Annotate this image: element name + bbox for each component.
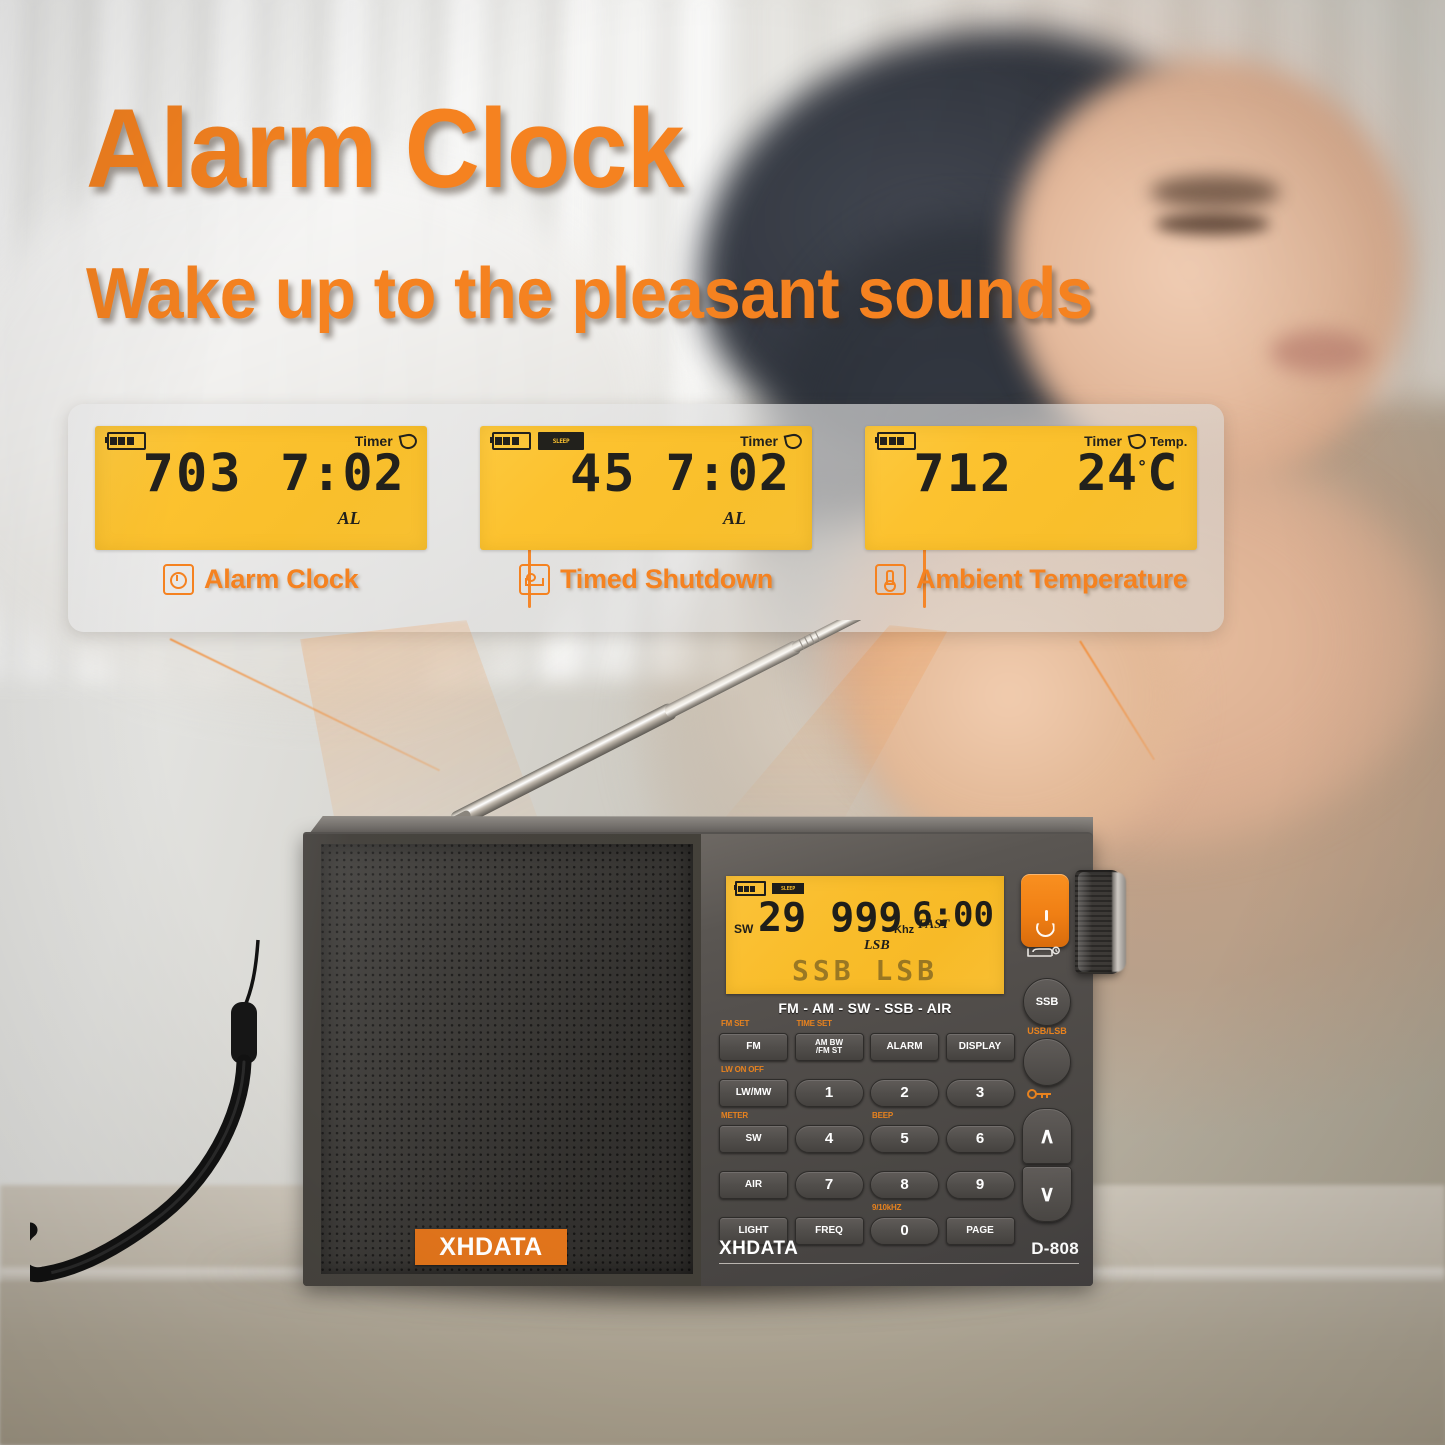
key-cell: METER SW (719, 1112, 785, 1153)
key-cell: ALARM (870, 1020, 936, 1061)
key-lock-icon (1025, 1088, 1069, 1100)
key-air[interactable]: AIR (719, 1171, 788, 1199)
bed-sleep-icon (1025, 944, 1065, 960)
band-indicator: SW (734, 922, 753, 936)
key-fm[interactable]: FM (719, 1033, 788, 1061)
key-7[interactable]: 7 (795, 1171, 864, 1199)
closed-eye (1155, 213, 1270, 235)
thermometer-icon (875, 564, 906, 595)
model-number: D-808 (1031, 1239, 1079, 1259)
power-button[interactable] (1021, 874, 1069, 947)
tuning-knob-highlight (1078, 872, 1092, 972)
key-cell: AIR (719, 1158, 785, 1199)
key-shift-tag: TIME SET (797, 1019, 832, 1028)
frequency-value: 29 999 (758, 898, 903, 938)
key-cell: 8 (870, 1158, 936, 1199)
key-6[interactable]: 6 (946, 1125, 1015, 1153)
key-8[interactable]: 8 (870, 1171, 939, 1199)
main-lcd-display: SLEEP SW 29 999 Khz FAST 6:00 LSB SSB LS… (726, 876, 1004, 994)
temp-unit: C (1147, 444, 1177, 502)
keypad-row: AIR 7 8 9 (719, 1158, 1011, 1199)
degree-symbol: ° (1137, 457, 1147, 477)
feature-label-ambient-temperature: Ambient Temperature (875, 564, 1187, 595)
battery-icon (735, 881, 766, 896)
key-shift-tag: FM SET (721, 1019, 749, 1028)
key-cell: 9 (946, 1158, 1012, 1199)
usb-lsb-button[interactable] (1023, 1038, 1071, 1086)
bed-icon (519, 564, 550, 595)
key-cell: DISPLAY (946, 1020, 1012, 1061)
ssb-button[interactable]: SSB (1023, 978, 1071, 1026)
feature-label-text: Alarm Clock (204, 564, 358, 595)
lips (1270, 330, 1370, 374)
key-5[interactable]: 5 (870, 1125, 939, 1153)
keypad: FM SET FM TIME SET AM BW /FM ST ALARM DI… (719, 1020, 1011, 1250)
alarm-clock-icon (163, 564, 194, 595)
key-cell: LW ON OFF LW/MW (719, 1066, 785, 1107)
power-icon-stem (1045, 910, 1048, 921)
lcd-al-indicator: AL (338, 508, 361, 529)
feature-panel: Timer 703 7:02 AL Alarm Clock SLEEP (68, 404, 1224, 632)
key-display[interactable]: DISPLAY (946, 1033, 1015, 1061)
lcd-right-value: 7:02 (666, 448, 790, 498)
tune-down-button[interactable]: ∨ (1022, 1166, 1072, 1222)
key-shift-tag: METER (721, 1111, 748, 1120)
key-shift-tag: BEEP (872, 1111, 893, 1120)
xhdata-d808-radio: XHDATA SLEEP SW 29 999 Khz FAST 6:00 LSB… (303, 816, 1093, 1286)
key-1[interactable]: 1 (795, 1079, 864, 1107)
key-lw-mw[interactable]: LW/MW (719, 1079, 788, 1107)
keypad-row: FM SET FM TIME SET AM BW /FM ST ALARM DI… (719, 1020, 1011, 1061)
hero-headline: Alarm Clock (86, 93, 684, 205)
tune-up-button[interactable]: ∧ (1022, 1108, 1072, 1164)
key-cell: 2 (870, 1066, 936, 1107)
sideband-indicator: LSB (864, 938, 890, 954)
lcd-display-shutdown: SLEEP Timer 45 7:02 AL (480, 426, 812, 550)
key-alarm[interactable]: ALARM (870, 1033, 939, 1061)
key-am-bw-fm-st[interactable]: AM BW /FM ST (795, 1033, 864, 1061)
key-shift-tag: 9/10kHZ (872, 1203, 901, 1212)
lcd-right-value: 7:02 (280, 448, 404, 498)
battery-icon (107, 432, 146, 450)
sleep-indicator-icon: SLEEP (772, 883, 804, 894)
key-cell: 1 (795, 1066, 861, 1107)
lcd-status-bar: SLEEP (735, 881, 804, 896)
battery-icon (492, 432, 531, 450)
band-strip-label: FM - AM - SW - SSB - AIR (726, 1000, 1004, 1016)
tuning-knob-cap (1112, 872, 1126, 972)
battery-icon (877, 432, 916, 450)
key-cell: 4 (795, 1112, 861, 1153)
lcd-temperature-value: 24°C (1077, 448, 1178, 498)
hero-subheadline: Wake up to the pleasant sounds (86, 258, 1093, 330)
key-cell: BEEP 5 (870, 1112, 936, 1153)
lcd-mode-line: SSB LSB (726, 954, 1004, 987)
speaker-grille (321, 844, 693, 1274)
key-cell: 3 (946, 1066, 1012, 1107)
brand-badge: XHDATA (415, 1229, 567, 1265)
eyebrow (1150, 175, 1280, 209)
lcd-left-value: 703 (143, 448, 243, 500)
key-4[interactable]: 4 (795, 1125, 864, 1153)
lcd-al-indicator: AL (723, 508, 746, 529)
key-shift-tag: LW ON OFF (721, 1065, 764, 1074)
lcd-left-value: 712 (913, 448, 1013, 500)
speaker-panel: XHDATA (303, 834, 703, 1286)
product-marketing-image: Alarm Clock Wake up to the pleasant soun… (0, 0, 1445, 1445)
feature-label-text: Timed Shutdown (560, 564, 773, 595)
clock-value: 6:00 (912, 898, 994, 932)
feature-label-alarm-clock: Alarm Clock (163, 564, 358, 595)
key-3[interactable]: 3 (946, 1079, 1015, 1107)
key-cell: FM SET FM (719, 1020, 785, 1061)
brand-name: XHDATA (719, 1238, 798, 1260)
brand-row: XHDATA D-808 (719, 1238, 1079, 1264)
keypad-row: LW ON OFF LW/MW 1 2 3 (719, 1066, 1011, 1107)
key-sw[interactable]: SW (719, 1125, 788, 1153)
feature-label-text: Ambient Temperature (916, 564, 1187, 595)
control-face: SLEEP SW 29 999 Khz FAST 6:00 LSB SSB LS… (701, 834, 1093, 1286)
lcd-display-temperature: Timer Temp. 712 24°C (865, 426, 1197, 550)
key-cell: TIME SET AM BW /FM ST (795, 1020, 861, 1061)
keypad-row: METER SW 4 BEEP 5 6 (719, 1112, 1011, 1153)
key-2[interactable]: 2 (870, 1079, 939, 1107)
temp-number: 24 (1077, 444, 1137, 502)
lcd-display-alarm: Timer 703 7:02 AL (95, 426, 427, 550)
lcd-left-value: 45 (570, 448, 637, 500)
feature-column-timed-shutdown: SLEEP Timer 45 7:02 AL Timed Shutdown (453, 404, 838, 632)
usb-lsb-tag: USB/LSB (1020, 1026, 1074, 1036)
key-cell: 6 (946, 1112, 1012, 1153)
key-cell: 7 (795, 1158, 861, 1199)
feature-column-alarm-clock: Timer 703 7:02 AL Alarm Clock (68, 404, 453, 632)
feature-label-timed-shutdown: Timed Shutdown (519, 564, 773, 595)
feature-column-ambient-temperature: Timer Temp. 712 24°C Ambient Temperature (839, 404, 1224, 632)
key-9[interactable]: 9 (946, 1171, 1015, 1199)
